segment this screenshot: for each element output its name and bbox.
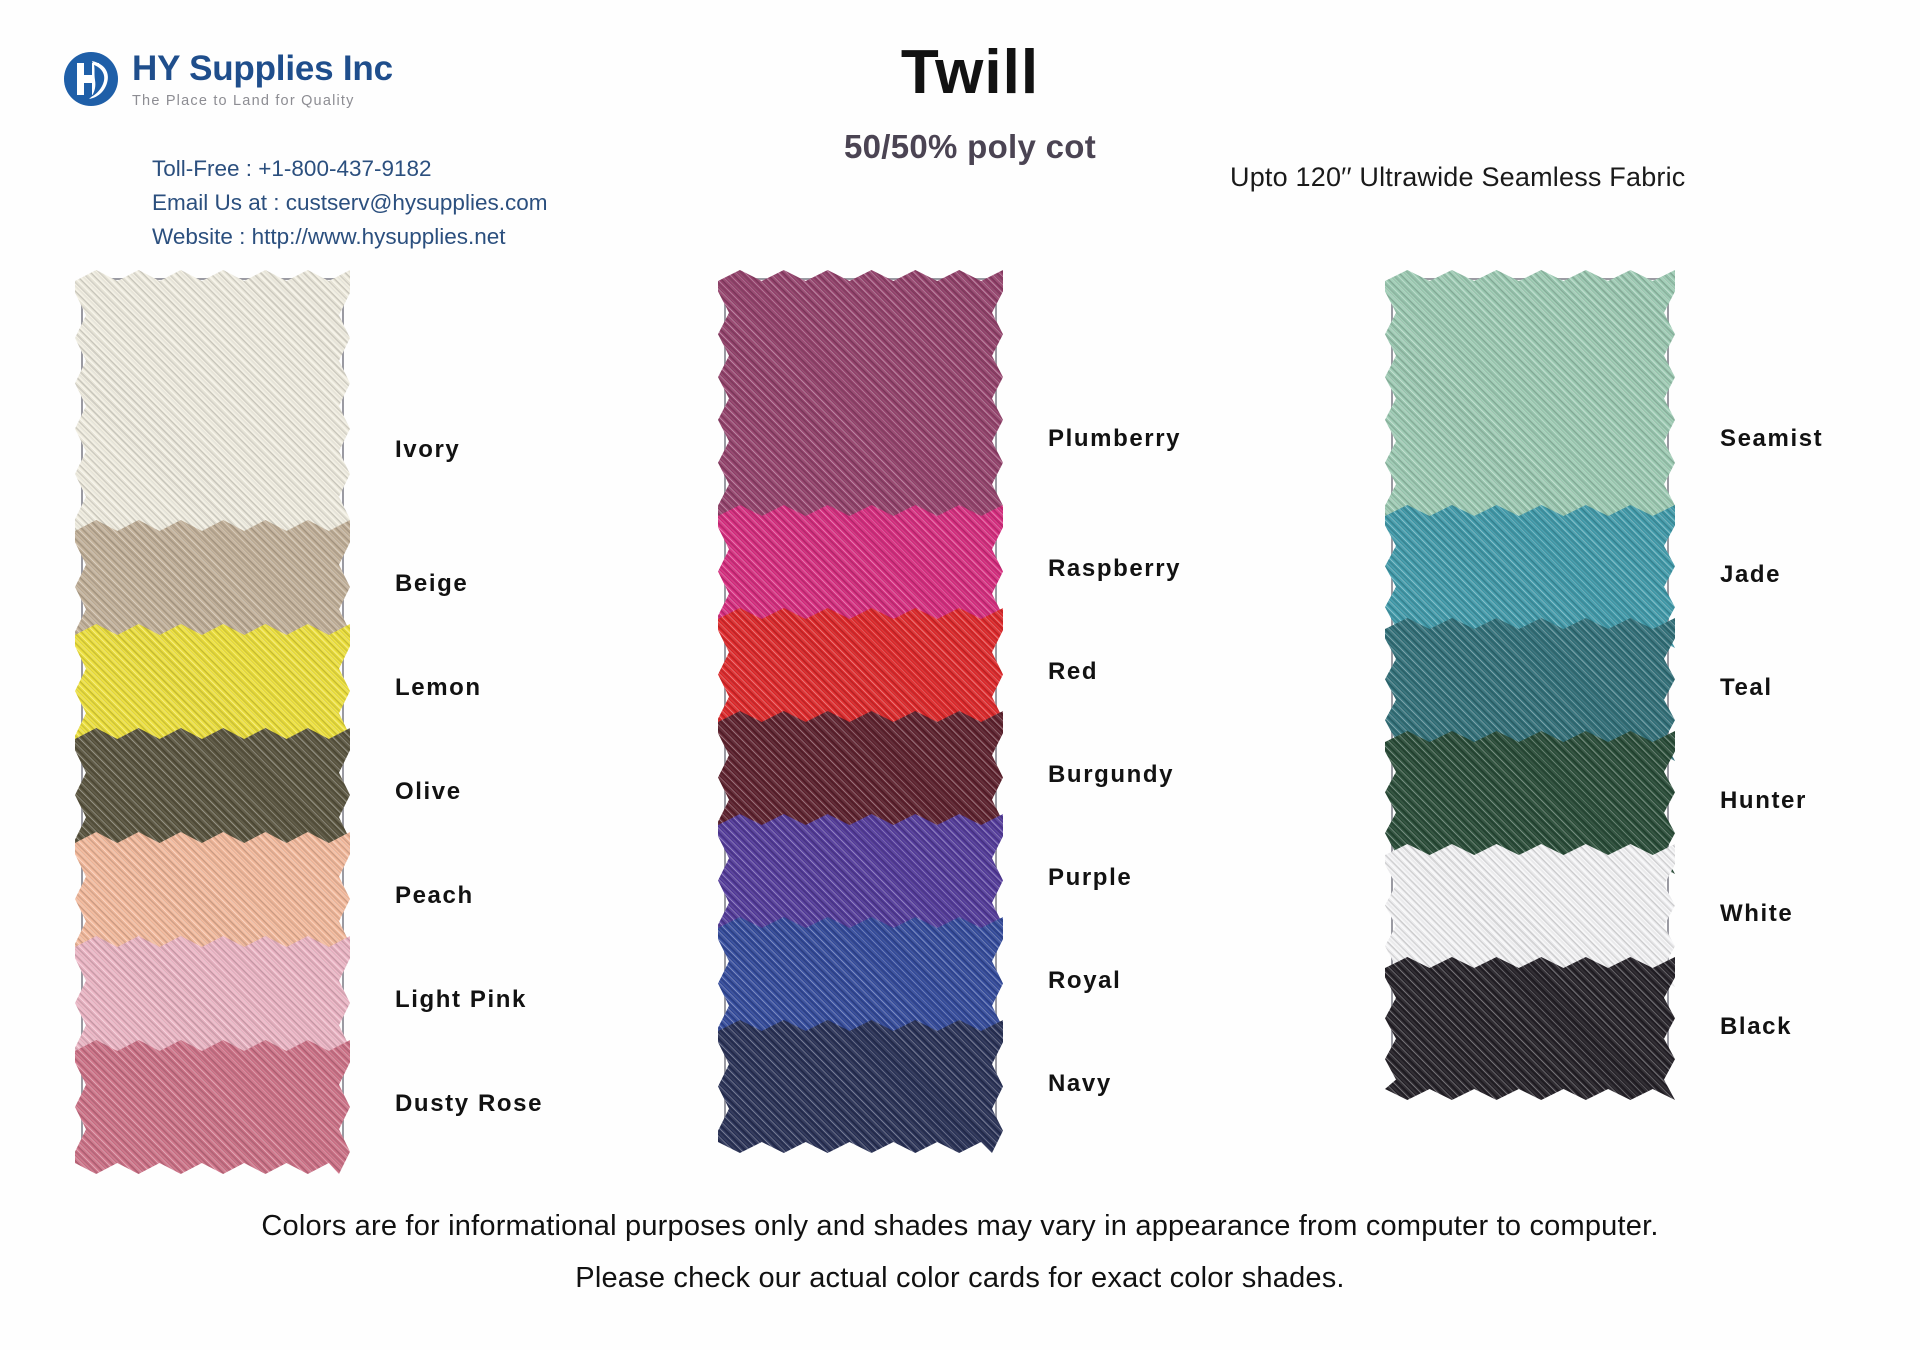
swatch-item[interactable] xyxy=(718,270,1003,527)
page-title: Twill xyxy=(760,42,1180,104)
brand-text: HY Supplies Inc The Place to Land for Qu… xyxy=(132,48,393,109)
swatch-label: Royal xyxy=(1048,967,1121,995)
fabric-composition: 50/50% poly cot xyxy=(760,128,1180,166)
logo-row: HY Supplies Inc The Place to Land for Qu… xyxy=(62,48,702,109)
swatch-columns: IvoryBeigeLemonOlivePeachLight PinkDusty… xyxy=(0,270,1920,1190)
swatch-label: Peach xyxy=(395,882,474,910)
color-card-page: HY Supplies Inc The Place to Land for Qu… xyxy=(0,0,1920,1350)
swatch-label: Red xyxy=(1048,658,1098,686)
swatch-column-reds-purples-column: PlumberryRaspberryRedBurgundyPurpleRoyal… xyxy=(718,270,1003,1123)
swatch-label: Burgundy xyxy=(1048,761,1174,789)
company-branding: HY Supplies Inc The Place to Land for Qu… xyxy=(62,48,702,109)
company-tagline: The Place to Land for Quality xyxy=(132,93,393,109)
swatch-label: Raspberry xyxy=(1048,555,1181,583)
swatch-label: Ivory xyxy=(395,436,460,464)
swatch-stack-wrap: PlumberryRaspberryRedBurgundyPurpleRoyal… xyxy=(718,270,1003,1123)
swatch-fabric-plumberry[interactable] xyxy=(718,270,1003,527)
swatch-label: Beige xyxy=(395,570,468,598)
swatch-label: Plumberry xyxy=(1048,425,1181,453)
swatch-item[interactable] xyxy=(75,270,350,542)
swatch-label: Dusty Rose xyxy=(395,1090,543,1118)
disclaimer: Colors are for informational purposes on… xyxy=(0,1200,1920,1304)
swatch-item[interactable] xyxy=(718,1020,1003,1153)
swatch-label: Black xyxy=(1720,1013,1792,1041)
swatch-stack xyxy=(718,270,1003,1123)
swatch-label: Navy xyxy=(1048,1070,1112,1098)
swatch-fabric-ivory[interactable] xyxy=(75,270,350,542)
disclaimer-line-2: Please check our actual color cards for … xyxy=(0,1252,1920,1304)
swatch-fabric-black[interactable] xyxy=(1385,957,1675,1100)
swatch-stack xyxy=(1385,270,1675,1070)
swatch-stack-wrap: SeamistJadeTealHunterWhiteBlack xyxy=(1385,270,1675,1070)
swatch-label: Jade xyxy=(1720,561,1781,589)
toll-free-line: Toll-Free : +1-800-437-9182 xyxy=(152,152,547,186)
disclaimer-line-1: Colors are for informational purposes on… xyxy=(0,1200,1920,1252)
swatch-item[interactable] xyxy=(75,1040,350,1174)
website-line[interactable]: Website : http://www.hysupplies.net xyxy=(152,220,547,254)
company-name: HY Supplies Inc xyxy=(132,51,393,88)
swatch-label: Light Pink xyxy=(395,986,527,1014)
contact-info: Toll-Free : +1-800-437-9182 Email Us at … xyxy=(152,152,547,254)
swatch-label: Olive xyxy=(395,778,462,806)
hy-supplies-logo-icon xyxy=(62,50,120,108)
product-title-block: Twill 50/50% poly cot xyxy=(760,42,1180,166)
swatch-label: Seamist xyxy=(1720,425,1823,453)
swatch-column-neutrals-column: IvoryBeigeLemonOlivePeachLight PinkDusty… xyxy=(75,270,350,1144)
swatch-stack-wrap: IvoryBeigeLemonOlivePeachLight PinkDusty… xyxy=(75,270,350,1144)
swatch-item[interactable] xyxy=(1385,270,1675,527)
swatch-fabric-dusty-rose[interactable] xyxy=(75,1040,350,1174)
swatch-item[interactable] xyxy=(1385,957,1675,1100)
fabric-width-note: Upto 120′′ Ultrawide Seamless Fabric xyxy=(1230,162,1686,193)
page-header: HY Supplies Inc The Place to Land for Qu… xyxy=(0,0,1920,270)
swatch-label: Purple xyxy=(1048,864,1132,892)
email-line[interactable]: Email Us at : custserv@hysupplies.com xyxy=(152,186,547,220)
swatch-label: Lemon xyxy=(395,674,482,702)
swatch-label: White xyxy=(1720,900,1793,928)
swatch-label: Hunter xyxy=(1720,787,1807,815)
swatch-label: Teal xyxy=(1720,674,1773,702)
swatch-fabric-navy[interactable] xyxy=(718,1020,1003,1153)
swatch-stack xyxy=(75,270,350,1144)
swatch-column-greens-blues-column: SeamistJadeTealHunterWhiteBlack xyxy=(1385,270,1675,1070)
swatch-fabric-seamist[interactable] xyxy=(1385,270,1675,527)
